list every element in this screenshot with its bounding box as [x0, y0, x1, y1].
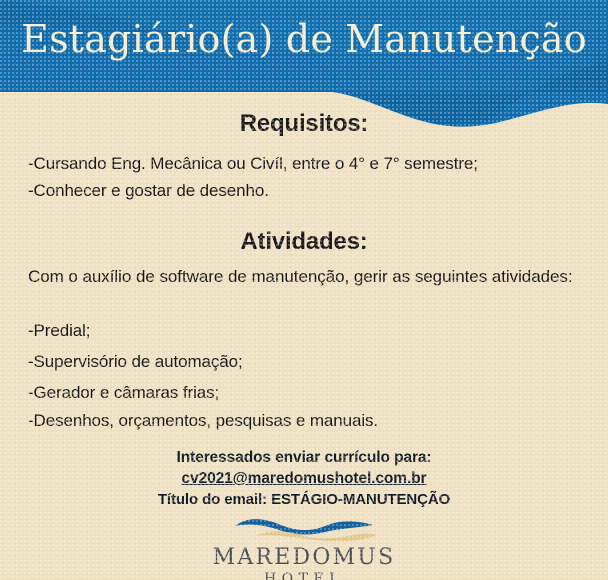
page-title: Estagiário(a) de Manutenção [0, 17, 608, 61]
section-heading-requisitos: Requisitos: [0, 110, 608, 138]
logo-subtitle: HOTEL [0, 572, 608, 580]
atividade-item: -Desenhos, orçamentos, pesquisas e manua… [28, 412, 584, 429]
atividade-item: -Gerador e câmaras frias; [28, 384, 584, 401]
atividade-item: -Supervisório de automação; [28, 353, 584, 370]
atividade-item: -Predial; [28, 322, 584, 339]
contact-email-link[interactable]: cv2021@maredomushotel.com.br [182, 470, 427, 487]
job-posting-poster: Estagiário(a) de Manutenção Requisitos: … [0, 0, 608, 580]
contact-subject-line: Título do email: ESTÁGIO-MANUTENÇÃO [0, 491, 608, 508]
contact-email-row: cv2021@maredomushotel.com.br [0, 470, 608, 488]
requisito-item: -Cursando Eng. Mecânica ou Civíl, entre … [28, 155, 584, 172]
wave-logo-icon [229, 516, 379, 544]
section-heading-atividades: Atividades: [0, 228, 608, 256]
logo-wordmark: MAREDOMUS [0, 546, 608, 570]
requisito-item: -Conhecer e gostar de desenho. [28, 182, 584, 199]
atividades-intro: Com o auxílio de software de manutenção,… [28, 263, 584, 291]
contact-call-to-action: Interessados enviar currículo para: [0, 449, 608, 467]
brand-logo: MAREDOMUS HOTEL [0, 516, 608, 580]
